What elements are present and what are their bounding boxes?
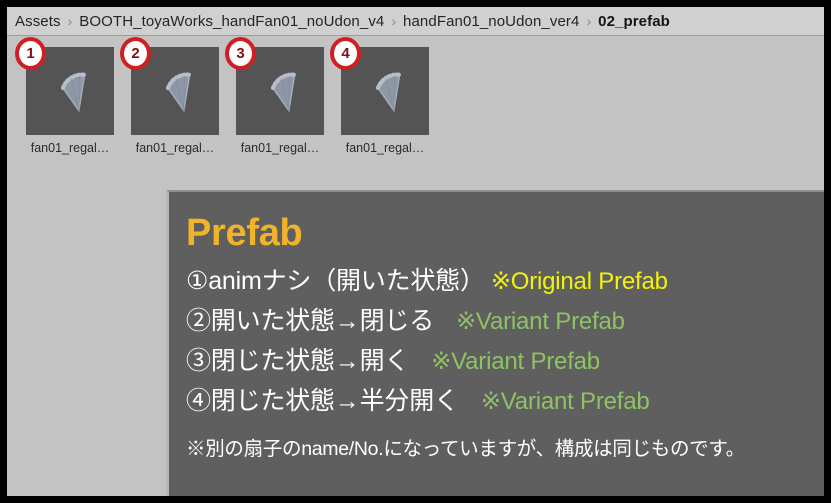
breadcrumb-item-02-prefab[interactable]: 02_prefab (598, 13, 670, 30)
asset-number-badge: 2 (120, 37, 151, 70)
breadcrumb-separator: › (68, 13, 73, 29)
breadcrumb-item-handfan01-noudon-ver4[interactable]: handFan01_noUdon_ver4 (403, 13, 579, 30)
panel-footnote: ※別の扇子のname/No.になっていますが、構成は同じものです。 (186, 432, 824, 461)
hand-fan-icon (43, 61, 101, 119)
panel-line-tag: ※Original Prefab (491, 268, 668, 295)
asset-label: fan01_regal… (236, 141, 324, 155)
screenshot-root: Assets›BOOTH_toyaWorks_handFan01_noUdon_… (0, 0, 831, 503)
asset-label: fan01_regal… (26, 141, 114, 155)
breadcrumb-separator: › (586, 13, 591, 29)
asset-number-badge: 4 (330, 37, 361, 70)
panel-title: Prefab (186, 214, 824, 254)
breadcrumb-item-booth-toyaworks-handfan01-noudon-v4[interactable]: BOOTH_toyaWorks_handFan01_noUdon_v4 (79, 13, 384, 30)
hand-fan-icon (253, 61, 311, 119)
hand-fan-icon (148, 61, 206, 119)
breadcrumb-item-assets[interactable]: Assets (15, 13, 61, 30)
panel-line-text: ③閉じた状態→開く (186, 347, 409, 375)
breadcrumb: Assets›BOOTH_toyaWorks_handFan01_noUdon_… (7, 7, 824, 36)
panel-line: ④閉じた状態→半分開く※Variant Prefab (186, 389, 824, 414)
panel-line-tag: ※Variant Prefab (456, 308, 625, 335)
panel-line: ①animナシ（開いた状態）※Original Prefab (186, 269, 824, 294)
panel-line: ③閉じた状態→開く※Variant Prefab (186, 349, 824, 374)
panel-line-tag: ※Variant Prefab (431, 348, 600, 375)
asset-label: fan01_regal… (341, 141, 429, 155)
annotation-overlay-panel: Prefab ①animナシ（開いた状態）※Original Prefab②開い… (166, 190, 824, 496)
panel-line-text: ①animナシ（開いた状態） (186, 267, 485, 295)
asset-number-badge: 3 (225, 37, 256, 70)
asset-grid: fan01_regal…1fan01_regal…2fan01_regal…3f… (7, 37, 824, 179)
panel-line: ②開いた状態→閉じる※Variant Prefab (186, 309, 824, 334)
panel-line-text: ②開いた状態→閉じる (186, 307, 434, 335)
hand-fan-icon (358, 61, 416, 119)
panel-line-text: ④閉じた状態→半分開く (186, 387, 459, 415)
asset-label: fan01_regal… (131, 141, 219, 155)
panel-line-list: ①animナシ（開いた状態）※Original Prefab②開いた状態→閉じる… (186, 269, 824, 414)
breadcrumb-separator: › (391, 13, 396, 29)
panel-line-tag: ※Variant Prefab (481, 388, 650, 415)
unity-project-window: Assets›BOOTH_toyaWorks_handFan01_noUdon_… (7, 7, 824, 496)
asset-number-badge: 1 (15, 37, 46, 70)
